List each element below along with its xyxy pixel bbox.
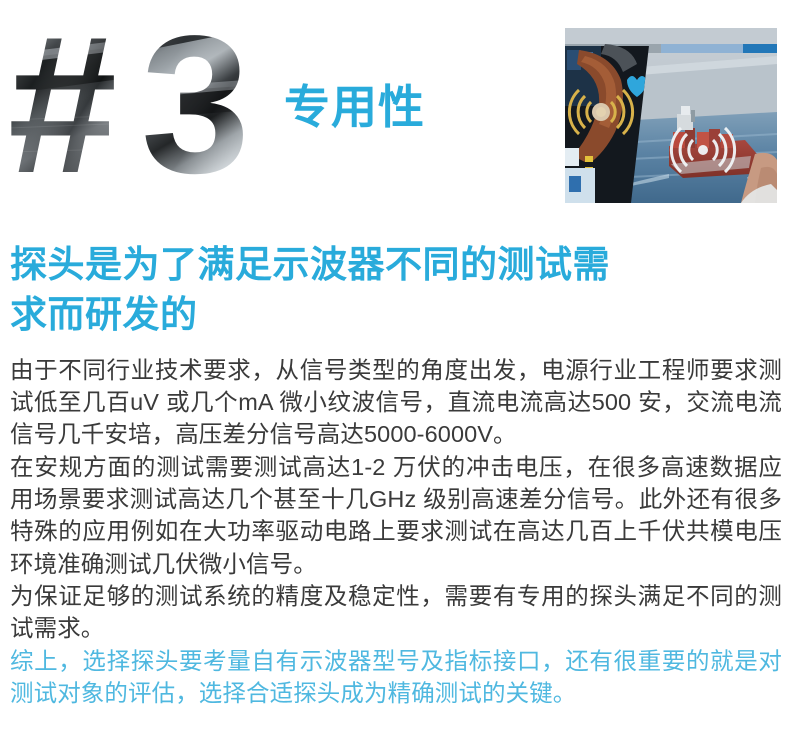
article-paragraph-1: 由于不同行业技术要求，从信号类型的角度出发，电源行业工程师要求测试低至几百uV … xyxy=(10,354,782,451)
article-paragraph-4-conclusion: 综上，选择探头要考量自有示波器型号及指标接口，还有很重要的就是对测试对象的评估，… xyxy=(10,645,782,710)
article-paragraph-2: 在安规方面的测试需要测试高达1-2 万伏的冲击电压，在很多高速数据应用场景要求测… xyxy=(10,451,782,580)
page-title: 探头是为了满足示波器不同的测试需求而研发的 xyxy=(10,240,610,340)
hero-masthead: # 3 xyxy=(0,0,790,222)
rank-number-fill xyxy=(128,2,298,202)
article-paragraph-3: 为保证足够的测试系统的精度及稳定性，需要有专用的探头满足不同的测试需求。 xyxy=(10,580,782,645)
rank-numeral: # 3 xyxy=(8,2,298,202)
rank-prefix-fill xyxy=(8,2,158,202)
article-body: 探头是为了满足示波器不同的测试需求而研发的 由于不同行业技术要求，从信号类型的角… xyxy=(10,240,782,709)
section-label: 专用性 xyxy=(284,84,425,130)
hero-photo xyxy=(565,28,777,203)
